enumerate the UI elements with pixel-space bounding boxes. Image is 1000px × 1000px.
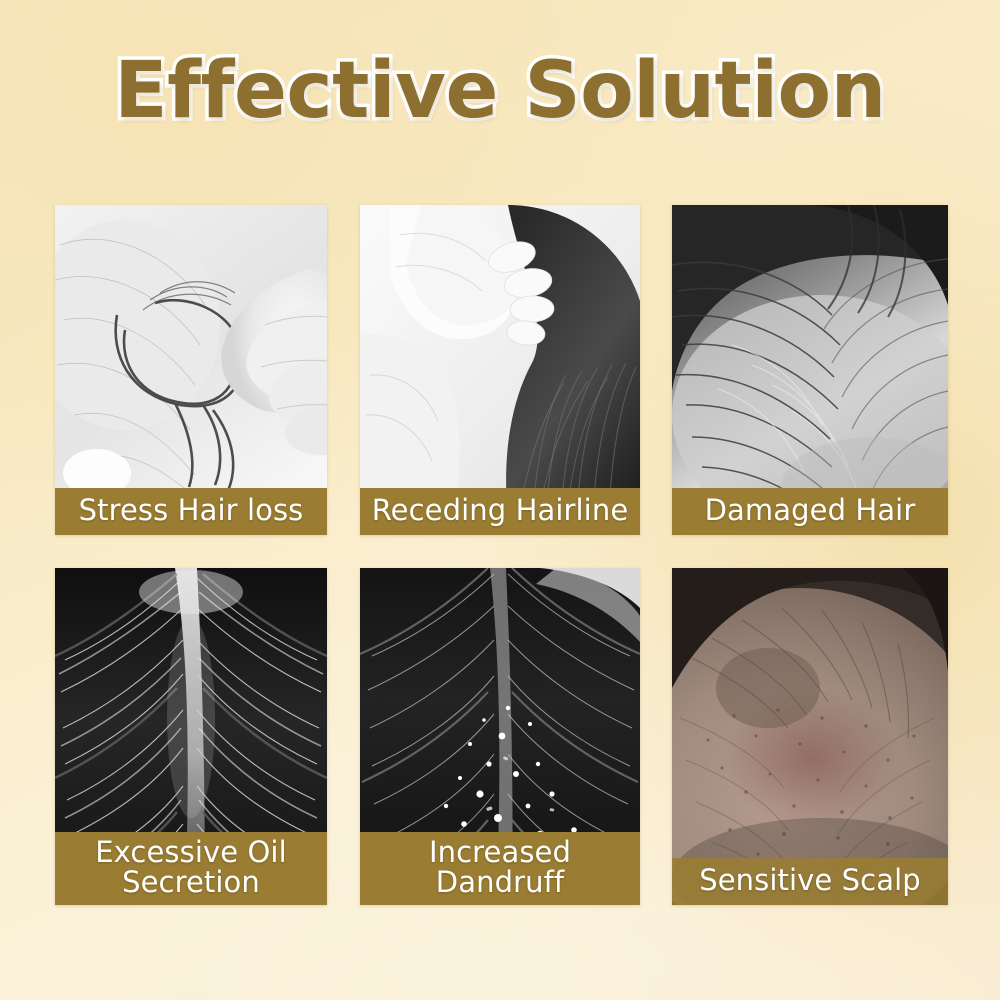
photo-irritated-balding-scalp: [672, 568, 948, 905]
caption-line: Excessive Oil: [59, 837, 323, 868]
card-stress-hair-loss[interactable]: Stress Hair loss: [55, 205, 327, 535]
caption-line: Increased: [364, 837, 636, 868]
photo-receding-hairline: [360, 205, 640, 535]
card-increased-dandruff[interactable]: Increased Dandruff: [360, 568, 640, 905]
card-sensitive-scalp[interactable]: Sensitive Scalp: [672, 568, 948, 905]
card-caption: Increased Dandruff: [360, 832, 640, 905]
caption-line: Damaged Hair: [676, 495, 944, 526]
caption-line: Secretion: [59, 867, 323, 898]
caption-line: Sensitive Scalp: [676, 865, 944, 896]
card-caption: Sensitive Scalp: [672, 858, 948, 905]
caption-line: Dandruff: [364, 867, 636, 898]
card-damaged-hair[interactable]: Damaged Hair: [672, 205, 948, 535]
page-title: Effective Solution: [114, 46, 885, 136]
problem-card-grid: Stress Hair loss: [55, 205, 948, 905]
card-caption: Stress Hair loss: [55, 488, 327, 535]
photo-hand-holding-fallen-hair: [55, 205, 327, 535]
title-container: Effective Solution: [0, 46, 1000, 136]
caption-line: Receding Hairline: [364, 495, 636, 526]
card-receding-hairline[interactable]: Receding Hairline: [360, 205, 640, 535]
card-excessive-oil-secretion[interactable]: Excessive Oil Secretion: [55, 568, 327, 905]
poster-root: Effective Solution: [0, 0, 1000, 1000]
card-caption: Damaged Hair: [672, 488, 948, 535]
card-caption: Excessive Oil Secretion: [55, 832, 327, 905]
caption-line: Stress Hair loss: [59, 495, 323, 526]
card-caption: Receding Hairline: [360, 488, 640, 535]
photo-damaged-hair: [672, 205, 948, 535]
